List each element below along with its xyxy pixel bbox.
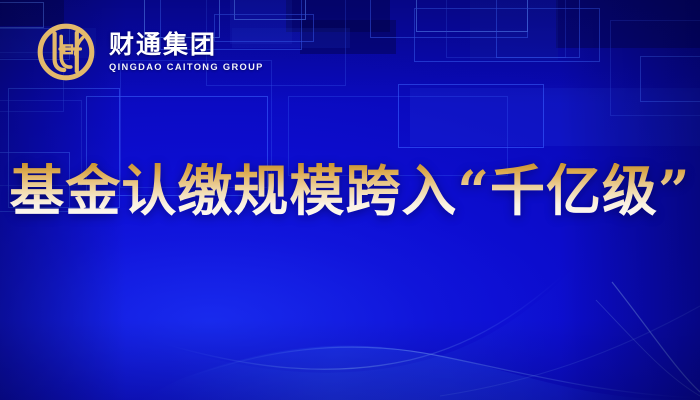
background-arc-line	[612, 282, 700, 392]
brand-name-en: QINGDAO CAITONG GROUP	[109, 63, 264, 72]
brand-text-group: 财通集团 QINGDAO CAITONG GROUP	[109, 32, 264, 72]
background-swoosh	[170, 256, 584, 400]
caitong-circular-emblem-icon	[36, 22, 96, 82]
headline-container: 基金认缴规模跨入“千亿级”	[0, 163, 700, 220]
brand-name-cn: 财通集团	[109, 32, 264, 58]
banner-slide: 财通集团 QINGDAO CAITONG GROUP 基金认缴规模跨入“千亿级”	[0, 0, 700, 400]
page-title: 基金认缴规模跨入“千亿级”	[9, 163, 690, 220]
brand-lockup: 财通集团 QINGDAO CAITONG GROUP	[36, 22, 264, 82]
